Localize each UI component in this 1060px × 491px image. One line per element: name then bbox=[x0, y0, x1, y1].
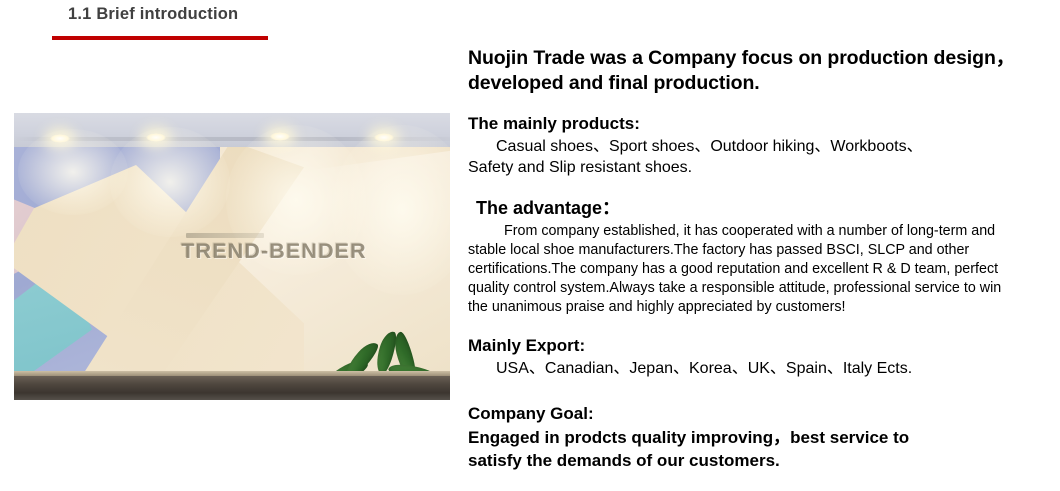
goal-block: Company Goal: Engaged in prodcts quality… bbox=[468, 403, 1020, 472]
export-body: USA、Canadian、Jepan、Korea、UK、Spain、Italy … bbox=[468, 359, 1020, 380]
photo-scene: TREND-BENDER bbox=[14, 113, 450, 400]
goal-line-2: satisfy the demands of our customers. bbox=[468, 450, 1020, 473]
spacer bbox=[468, 189, 1020, 197]
marble-floor bbox=[14, 376, 450, 400]
spacer bbox=[468, 327, 1020, 335]
wall-sign-accent-bar bbox=[186, 233, 264, 238]
advantage-block: The advantage： From company established,… bbox=[468, 197, 1020, 317]
ceiling-spot-light bbox=[50, 134, 70, 143]
ceiling-spot-light bbox=[374, 133, 394, 142]
office-lobby-photo: TREND-BENDER bbox=[14, 113, 450, 400]
export-heading: Mainly Export: bbox=[468, 335, 1020, 357]
ceiling-spot-light bbox=[146, 133, 166, 142]
page-title: 1.1 Brief introduction bbox=[68, 5, 238, 24]
advantage-body: From company established, it has coopera… bbox=[468, 222, 1020, 317]
spacer bbox=[468, 390, 1020, 403]
goal-heading: Company Goal: bbox=[468, 403, 1020, 425]
company-lead-statement: Nuojin Trade was a Company focus on prod… bbox=[468, 46, 1020, 95]
description-column: Nuojin Trade was a Company focus on prod… bbox=[468, 46, 1020, 482]
products-line-2: Safety and Slip resistant shoes. bbox=[468, 158, 1020, 179]
advantage-heading: The advantage： bbox=[468, 197, 1020, 220]
products-line-1: Casual shoes、Sport shoes、Outdoor hiking、… bbox=[468, 137, 1020, 158]
products-block: The mainly products: Casual shoes、Sport … bbox=[468, 113, 1020, 179]
products-heading: The mainly products: bbox=[468, 113, 1020, 135]
export-block: Mainly Export: USA、Canadian、Jepan、Korea、… bbox=[468, 335, 1020, 380]
goal-line-1: Engaged in prodcts quality improving，bes… bbox=[468, 427, 1020, 450]
wall-sign-text: TREND-BENDER bbox=[181, 240, 366, 264]
ceiling-spot-light bbox=[270, 132, 290, 141]
title-underline-rule bbox=[52, 36, 268, 40]
